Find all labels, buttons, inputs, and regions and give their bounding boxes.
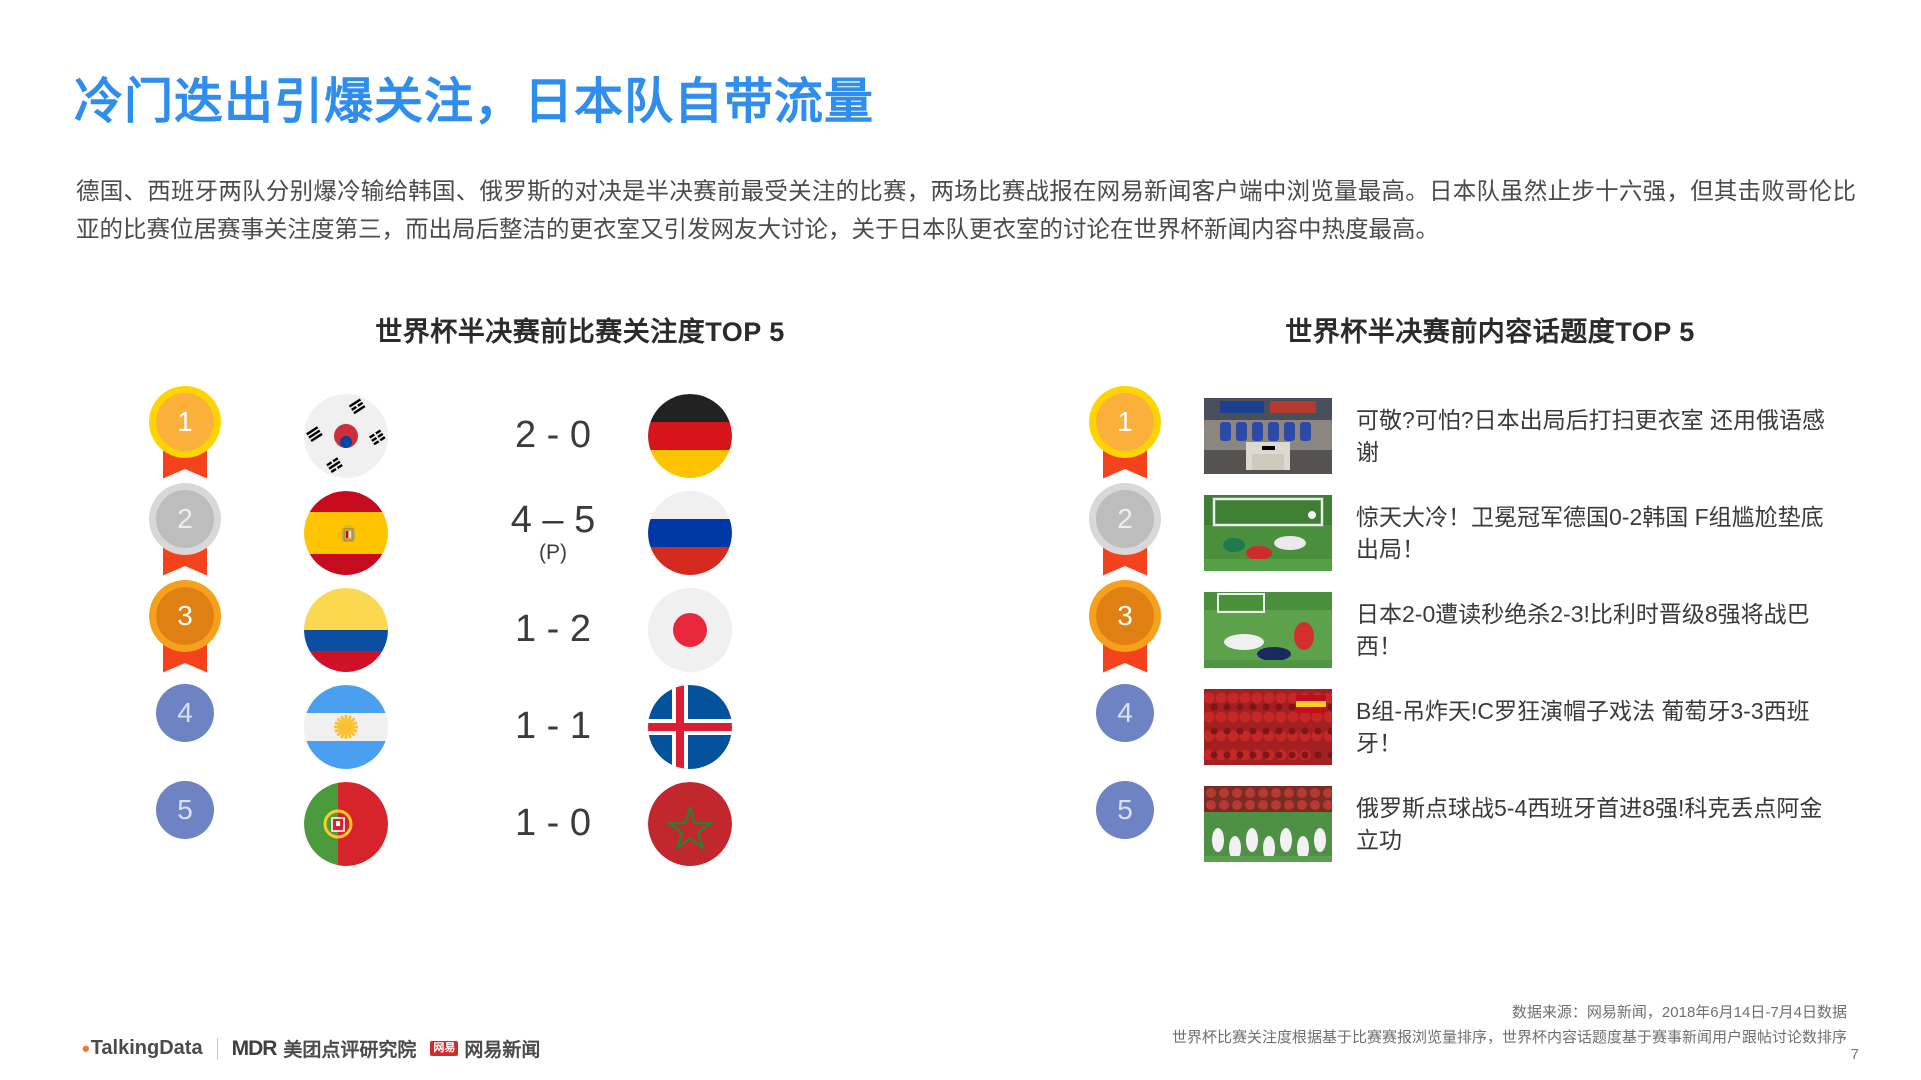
rank-badge-match-3: 3 (150, 587, 220, 673)
flag-ma-icon (648, 782, 732, 866)
rank-number: 4 (1096, 684, 1154, 742)
right-panel-title: 世界杯半决赛前内容话题度TOP 5 (1110, 310, 1870, 349)
mdr-logo-text: 美团点评研究院 (283, 1035, 416, 1062)
news-thumbnail[interactable] (1204, 495, 1332, 571)
source-line-2: 世界杯比赛关注度根据基于比赛赛报浏览量排序，世界杯内容话题度基于赛事新闻用户跟帖… (1172, 1025, 1847, 1050)
flag-kr-icon (304, 394, 388, 478)
netease-news-logo: 网易 网易新闻 (430, 1035, 540, 1062)
rank-number: 4 (156, 684, 214, 742)
flag-de-icon (648, 394, 732, 478)
news-thumbnail[interactable] (1204, 786, 1332, 862)
talkingdata-dot-icon: • (82, 1036, 90, 1062)
rank-number: 2 (1096, 490, 1154, 548)
match-list: 1 2 - 0 2 (150, 387, 1030, 872)
rank-number: 5 (156, 781, 214, 839)
flag-ar-icon (304, 685, 388, 769)
left-panel-title: 世界杯半决赛前比赛关注度TOP 5 (130, 310, 1030, 349)
rank-number: 1 (156, 393, 214, 451)
table-row: 3 1 - 2 (150, 581, 1030, 678)
source-note: 数据来源：网易新闻，2018年6月14日-7月4日数据 世界杯比赛关注度根据基于… (1172, 1000, 1847, 1050)
match-attention-panel: 世界杯半决赛前比赛关注度TOP 5 1 2 - (150, 310, 1030, 872)
content-topic-panel: 世界杯半决赛前内容话题度TOP 5 1 可敬?可怕?日本出局后打扫更衣室 还用俄… (1090, 310, 1870, 872)
rank-badge-match-5: 5 (150, 781, 220, 867)
list-item[interactable]: 2 惊天大冷！卫冕冠军德国0-2韩国 F组尴尬垫底出局！ (1090, 484, 1870, 581)
mdr-mark-text: MDR (232, 1037, 277, 1061)
flag-es-icon (304, 491, 388, 575)
rank-number: 3 (156, 587, 214, 645)
logo-divider-1 (217, 1038, 218, 1060)
news-thumbnail[interactable] (1204, 398, 1332, 474)
rank-number: 2 (156, 490, 214, 548)
rank-number: 3 (1096, 587, 1154, 645)
flag-is-icon (648, 685, 732, 769)
news-headline[interactable]: 日本2-0遭读秒绝杀2-3!比利时晋级8强将战巴西！ (1356, 598, 1826, 662)
match-score: 4 – 5(P) (458, 501, 648, 565)
score-note: (P) (458, 542, 648, 564)
list-item[interactable]: 3 日本2-0遭读秒绝杀2-3!比利时晋级8强将战巴西！ (1090, 581, 1870, 678)
news-thumbnail[interactable] (1204, 592, 1332, 668)
netease-logo-text: 网易新闻 (464, 1035, 540, 1062)
page-title: 冷门迭出引爆关注，日本队自带流量 (74, 62, 874, 133)
match-score: 1 - 0 (458, 804, 648, 844)
news-headline[interactable]: 俄罗斯点球战5-4西班牙首进8强!科克丢点阿金立功 (1356, 792, 1826, 856)
news-thumbnail[interactable] (1204, 689, 1332, 765)
rank-badge-match-2: 2 (150, 490, 220, 576)
table-row: 5 1 - 0 (150, 775, 1030, 872)
news-headline[interactable]: B组-吊炸天!C罗狂演帽子戏法 葡萄牙3-3西班牙！ (1356, 695, 1826, 759)
intro-paragraph: 德国、西班牙两队分别爆冷输给韩国、俄罗斯的对决是半决赛前最受关注的比赛，两场比赛… (76, 172, 1856, 248)
table-row: 4 1 - 1 (150, 678, 1030, 775)
page-number: 7 (1851, 1046, 1859, 1063)
rank-badge-news-5: 5 (1090, 781, 1160, 867)
mdr-logo: MDR 美团点评研究院 (232, 1035, 417, 1062)
source-line-1: 数据来源：网易新闻，2018年6月14日-7月4日数据 (1172, 1000, 1847, 1025)
rank-badge-match-1: 1 (150, 393, 220, 479)
list-item[interactable]: 1 可敬?可怕?日本出局后打扫更衣室 还用俄语感谢 (1090, 387, 1870, 484)
rank-badge-match-4: 4 (150, 684, 220, 770)
list-item[interactable]: 4 B组-吊炸天!C罗狂演帽子戏法 葡萄牙3-3西班牙！ (1090, 678, 1870, 775)
table-row: 2 4 – 5(P) (150, 484, 1030, 581)
table-row: 1 2 - 0 (150, 387, 1030, 484)
list-item[interactable]: 5 俄罗斯点球战5-4西班牙首进8强!科克丢点阿金立功 (1090, 775, 1870, 872)
netease-box-icon: 网易 (430, 1041, 458, 1056)
rank-number: 5 (1096, 781, 1154, 839)
rank-badge-news-1: 1 (1090, 393, 1160, 479)
flag-jp-icon (648, 588, 732, 672)
talkingdata-logo-text: TalkingData (91, 1037, 203, 1060)
flag-pt-icon (304, 782, 388, 866)
news-list: 1 可敬?可怕?日本出局后打扫更衣室 还用俄语感谢 2 惊天大冷！卫冕冠军德国0… (1090, 387, 1870, 872)
footer-logos: • TalkingData MDR 美团点评研究院 网易 网易新闻 (82, 1035, 540, 1062)
match-score: 1 - 1 (458, 707, 648, 747)
rank-number: 1 (1096, 393, 1154, 451)
talkingdata-logo: • TalkingData (82, 1036, 203, 1062)
rank-badge-news-4: 4 (1090, 684, 1160, 770)
news-headline[interactable]: 可敬?可怕?日本出局后打扫更衣室 还用俄语感谢 (1356, 404, 1826, 468)
flag-ru-icon (648, 491, 732, 575)
rank-badge-news-2: 2 (1090, 490, 1160, 576)
flag-co-icon (304, 588, 388, 672)
rank-badge-news-3: 3 (1090, 587, 1160, 673)
news-headline[interactable]: 惊天大冷！卫冕冠军德国0-2韩国 F组尴尬垫底出局！ (1356, 501, 1826, 565)
match-score: 2 - 0 (458, 416, 648, 456)
slide-root: 冷门迭出引爆关注，日本队自带流量 德国、西班牙两队分别爆冷输给韩国、俄罗斯的对决… (0, 0, 1921, 1080)
match-score: 1 - 2 (458, 610, 648, 650)
